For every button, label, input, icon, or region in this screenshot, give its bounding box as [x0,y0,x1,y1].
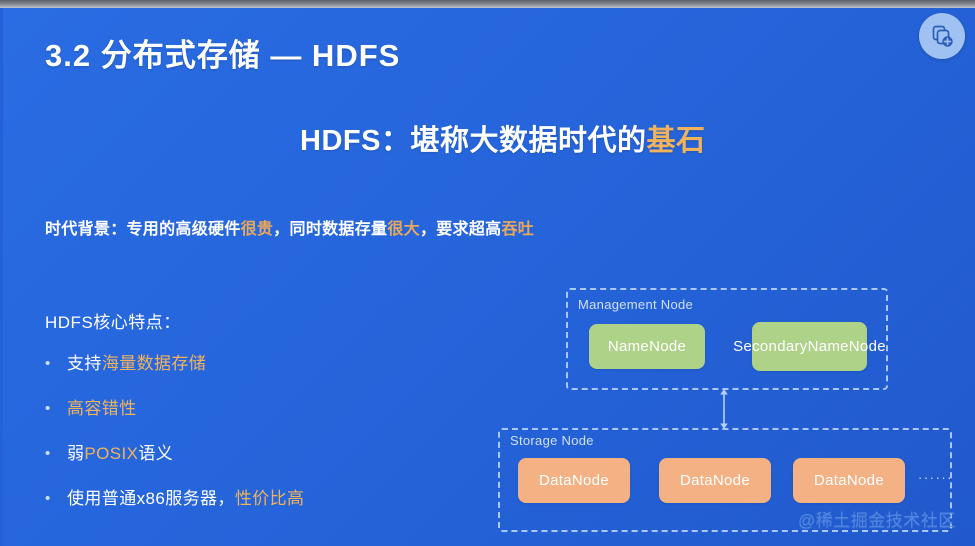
bullet-2-tail: 语义 [138,444,173,463]
bullet-0-plain: 支持 [67,354,102,373]
slide-canvas: 3.2 分布式存储 — HDFS HDFS：堪称大数据时代的基石 时代背景：专用… [0,0,975,546]
secondary-namenode-line2: NameNode [808,338,886,356]
context-highlight-2: 很大 [387,221,420,238]
secondary-namenode-box[interactable]: Secondary NameNode [752,322,867,371]
datanode-box[interactable]: DataNode [659,458,771,503]
bullet-1-highlight: 高容错性 [67,399,137,418]
bullet-marker: • [45,487,67,511]
list-item-label: 高容错性 [67,397,137,421]
slide-left-edge [0,8,3,546]
datanode-box[interactable]: DataNode [793,458,905,503]
management-node-label: Management Node [578,297,693,312]
list-item: • 支持海量数据存储 [45,352,445,376]
main-heading: HDFS：堪称大数据时代的基石 [300,117,705,159]
add-to-collection-button[interactable] [919,13,965,59]
context-line: 时代背景：专用的高级硬件很贵，同时数据存量很大，要求超高吞吐 [45,215,534,239]
watermark: @稀土掘金技术社区 [798,506,956,531]
list-item: • 高容错性 [45,397,445,421]
datanode-box[interactable]: DataNode [518,458,630,503]
context-part-2: ，同时数据存量 [273,221,387,238]
window-chrome-bar [0,0,975,8]
list-item-label: 支持海量数据存储 [67,352,206,376]
context-highlight-3: 吞吐 [501,221,534,238]
bullet-3-plain: 使用普通x86服务器， [67,489,235,508]
management-storage-connector-arrow [717,388,731,430]
add-cards-icon [929,23,955,49]
main-heading-plain: HDFS：堪称大数据时代的 [300,125,646,157]
bullet-2-highlight: POSIX [84,444,138,463]
features-heading: HDFS核心特点： [45,308,181,333]
context-highlight-1: 很贵 [241,221,274,238]
bullet-marker: • [45,442,67,466]
bullet-3-highlight: 性价比高 [235,489,305,508]
datanode-ellipsis: ······ [918,470,953,485]
storage-node-label: Storage Node [510,433,594,448]
context-part-1: 时代背景：专用的高级硬件 [45,221,241,238]
bullet-marker: • [45,352,67,376]
namenode-box[interactable]: NameNode [589,324,705,369]
bullet-0-highlight: 海量数据存储 [102,354,206,373]
secondary-namenode-line1: Secondary [733,338,807,356]
list-item-label: 使用普通x86服务器，性价比高 [67,487,304,511]
main-heading-highlight: 基石 [646,125,705,157]
features-list: • 支持海量数据存储 • 高容错性 • 弱POSIX语义 • 使用普通x86服务… [45,352,445,532]
list-item: • 使用普通x86服务器，性价比高 [45,487,445,511]
list-item-label: 弱POSIX语义 [67,442,173,466]
bullet-2-plain: 弱 [67,444,84,463]
list-item: • 弱POSIX语义 [45,442,445,466]
bullet-marker: • [45,397,67,421]
page-title: 3.2 分布式存储 — HDFS [45,30,400,75]
context-part-3: ，要求超高 [420,221,502,238]
